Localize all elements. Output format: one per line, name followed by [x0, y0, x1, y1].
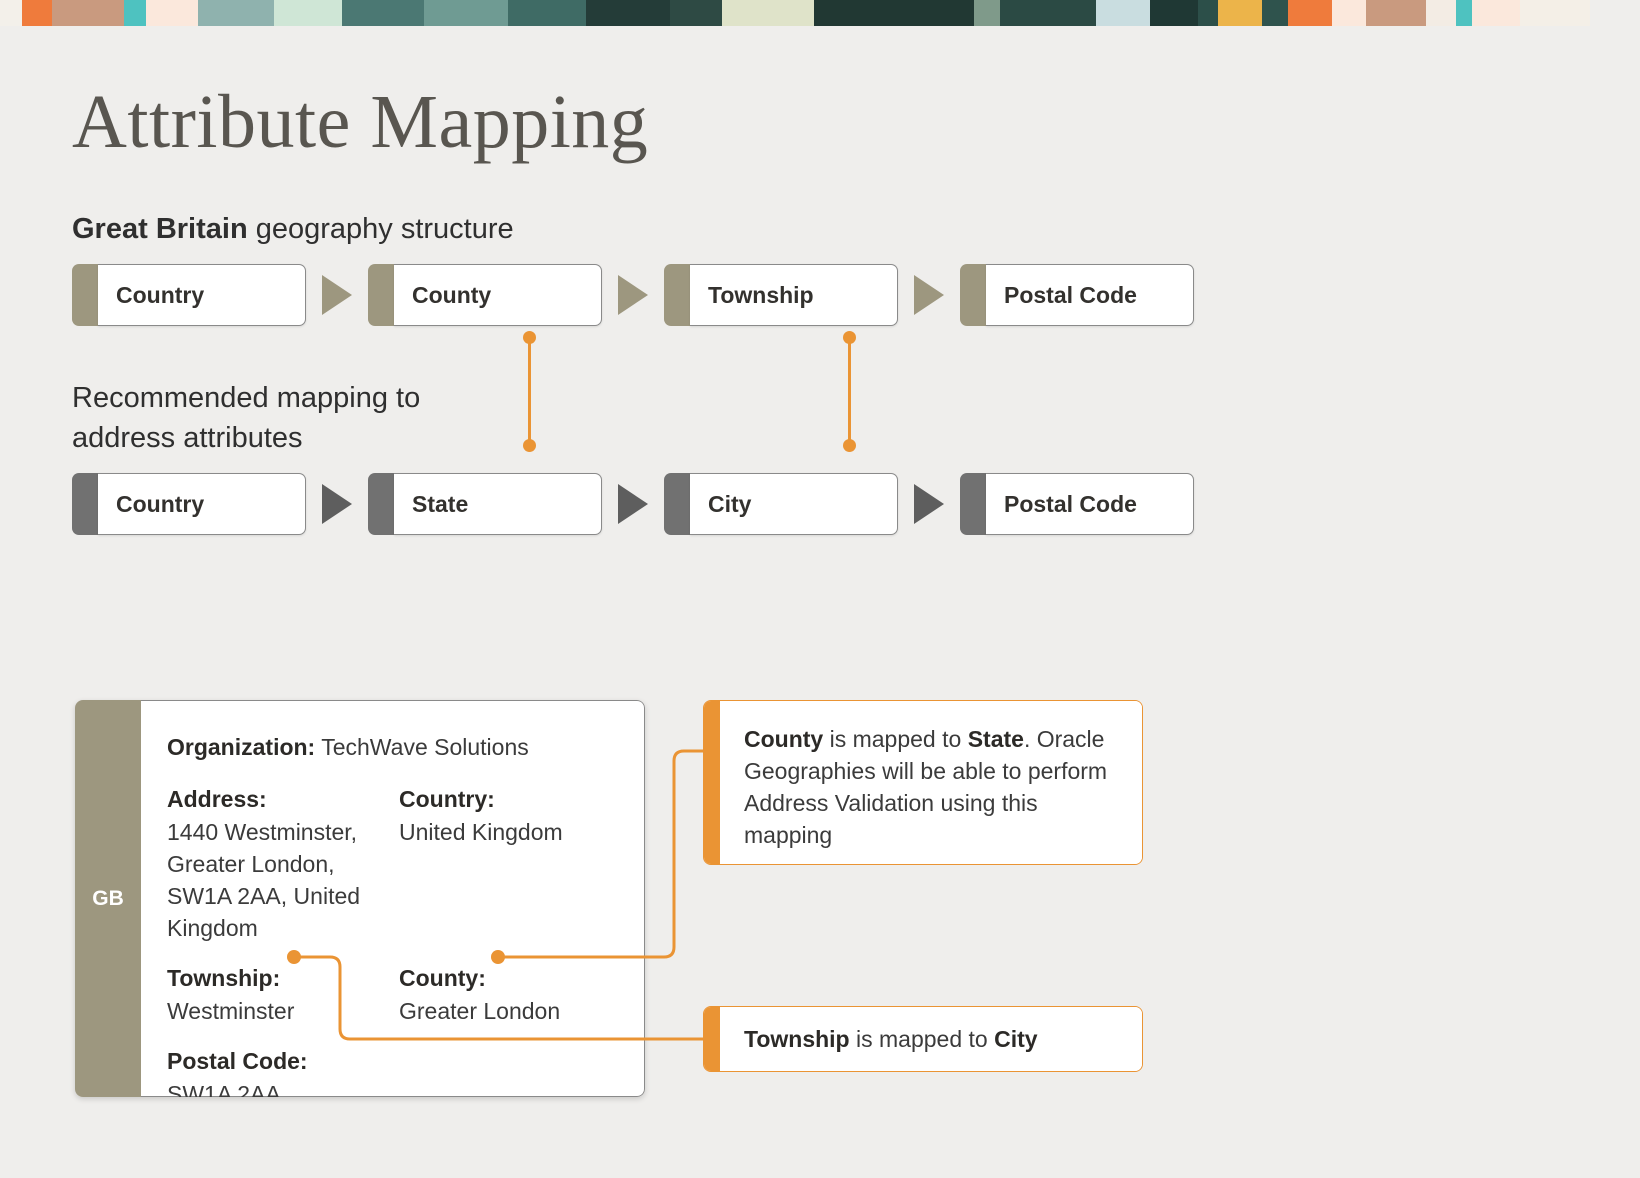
recommended-chain: Country State City Postal Code [72, 473, 1194, 535]
geography-chain: Country County Township Postal Code [72, 264, 1194, 326]
township-label: Township: [167, 962, 399, 995]
banner-stripe [1096, 0, 1150, 26]
banner-stripe [1332, 0, 1366, 26]
address-label: Address: [167, 783, 399, 816]
banner-stripe [1426, 0, 1456, 26]
node-tab [664, 473, 690, 535]
node-label: Country [98, 264, 306, 326]
country-label: Country: [399, 783, 639, 816]
geography-caption-rest: geography structure [248, 213, 514, 245]
address-value: 1440 Westminster, Greater London, SW1A 2… [167, 816, 399, 944]
callout-text: County is mapped to State. Oracle Geogra… [720, 701, 1142, 864]
banner-stripe [1218, 0, 1262, 26]
banner-stripe [670, 0, 722, 26]
county-label: County: [399, 962, 639, 995]
node-label: City [690, 473, 898, 535]
address-country-columns: Address: 1440 Westminster, Greater Londo… [167, 783, 644, 944]
banner-stripe [1472, 0, 1520, 26]
decorative-banner [0, 0, 1640, 26]
callout-accent-bar [704, 1007, 720, 1071]
banner-stripe [1456, 0, 1472, 26]
address-card: GB Organization: TechWave Solutions Addr… [75, 700, 645, 1097]
geo-node-postal-code[interactable]: Postal Code [960, 264, 1194, 326]
banner-stripe [22, 0, 52, 26]
node-tab [960, 264, 986, 326]
banner-stripe [1150, 0, 1198, 26]
rec-node-country[interactable]: Country [72, 473, 306, 535]
node-label: Country [98, 473, 306, 535]
rec-node-city[interactable]: City [664, 473, 898, 535]
banner-stripe [52, 0, 124, 26]
township-value: Westminster [167, 995, 399, 1027]
node-label: Postal Code [986, 473, 1194, 535]
mapping-link-line-county-state [528, 338, 531, 442]
node-tab [72, 473, 98, 535]
postal-code-label: Postal Code: [167, 1045, 644, 1078]
organization-label: Organization: [167, 734, 315, 760]
slide-canvas: Attribute Mapping Great Britain geograph… [0, 0, 1640, 1178]
banner-stripe [1520, 0, 1590, 26]
geography-caption: Great Britain geography structure [72, 210, 514, 248]
township-county-columns: Township: Westminster County: Greater Lo… [167, 962, 644, 1027]
banner-stripe [1366, 0, 1426, 26]
township-column: Township: Westminster [167, 962, 399, 1027]
banner-stripe [146, 0, 198, 26]
banner-stripe [124, 0, 146, 26]
callout-bold-target: City [994, 1026, 1037, 1052]
geography-caption-bold: Great Britain [72, 213, 248, 245]
node-tab [960, 473, 986, 535]
banner-stripe [974, 0, 1000, 26]
banner-stripe [0, 0, 22, 26]
rec-node-state[interactable]: State [368, 473, 602, 535]
rec-node-postal-code[interactable]: Postal Code [960, 473, 1194, 535]
node-tab [368, 473, 394, 535]
banner-stripe [814, 0, 974, 26]
banner-stripe [1262, 0, 1288, 26]
banner-stripe [722, 0, 814, 26]
node-tab [368, 264, 394, 326]
callout-bold-source: Township [744, 1026, 850, 1052]
banner-stripe [508, 0, 586, 26]
mapping-link-dot-state [523, 439, 536, 452]
page-title: Attribute Mapping [72, 76, 648, 168]
banner-stripe [424, 0, 508, 26]
arrow-right-icon [602, 484, 664, 524]
banner-stripe [1198, 0, 1218, 26]
node-label: Postal Code [986, 264, 1194, 326]
county-value: Greater London [399, 995, 639, 1027]
geo-node-township[interactable]: Township [664, 264, 898, 326]
organization-row: Organization: TechWave Solutions [167, 731, 644, 763]
banner-stripe [586, 0, 670, 26]
banner-stripe [342, 0, 424, 26]
callout-county-to-state: County is mapped to State. Oracle Geogra… [703, 700, 1143, 865]
callout-bold-target: State [968, 726, 1024, 752]
arrow-right-icon [898, 484, 960, 524]
arrow-right-icon [898, 275, 960, 315]
node-tab [72, 264, 98, 326]
postal-code-value: SW1A 2AA [167, 1078, 644, 1097]
callout-accent-bar [704, 701, 720, 864]
callout-mid-text: is mapped to [850, 1026, 994, 1052]
banner-stripe [198, 0, 274, 26]
callout-mid-text: is mapped to [823, 726, 967, 752]
geo-node-country[interactable]: Country [72, 264, 306, 326]
callout-text: Township is mapped to City [720, 1007, 1142, 1071]
banner-stripe [274, 0, 342, 26]
geo-node-county[interactable]: County [368, 264, 602, 326]
address-column: Address: 1440 Westminster, Greater Londo… [167, 783, 399, 944]
arrow-right-icon [306, 484, 368, 524]
callout-township-to-city: Township is mapped to City [703, 1006, 1143, 1072]
mapping-link-line-township-city [848, 338, 851, 442]
callout-bold-source: County [744, 726, 823, 752]
mapping-link-dot-city [843, 439, 856, 452]
arrow-right-icon [306, 275, 368, 315]
recommended-caption: Recommended mapping to address attribute… [72, 378, 492, 458]
arrow-right-icon [602, 275, 664, 315]
organization-value: TechWave Solutions [321, 734, 529, 760]
country-column: Country: United Kingdom [399, 783, 639, 944]
node-label: County [394, 264, 602, 326]
country-flag-badge: GB [75, 700, 141, 1097]
postal-code-block: Postal Code: SW1A 2AA [167, 1045, 644, 1097]
node-label: State [394, 473, 602, 535]
country-value: United Kingdom [399, 816, 639, 848]
county-column: County: Greater London [399, 962, 639, 1027]
address-card-body: Organization: TechWave Solutions Address… [141, 700, 645, 1097]
banner-stripe [1000, 0, 1096, 26]
node-label: Township [690, 264, 898, 326]
banner-stripe [1288, 0, 1332, 26]
node-tab [664, 264, 690, 326]
